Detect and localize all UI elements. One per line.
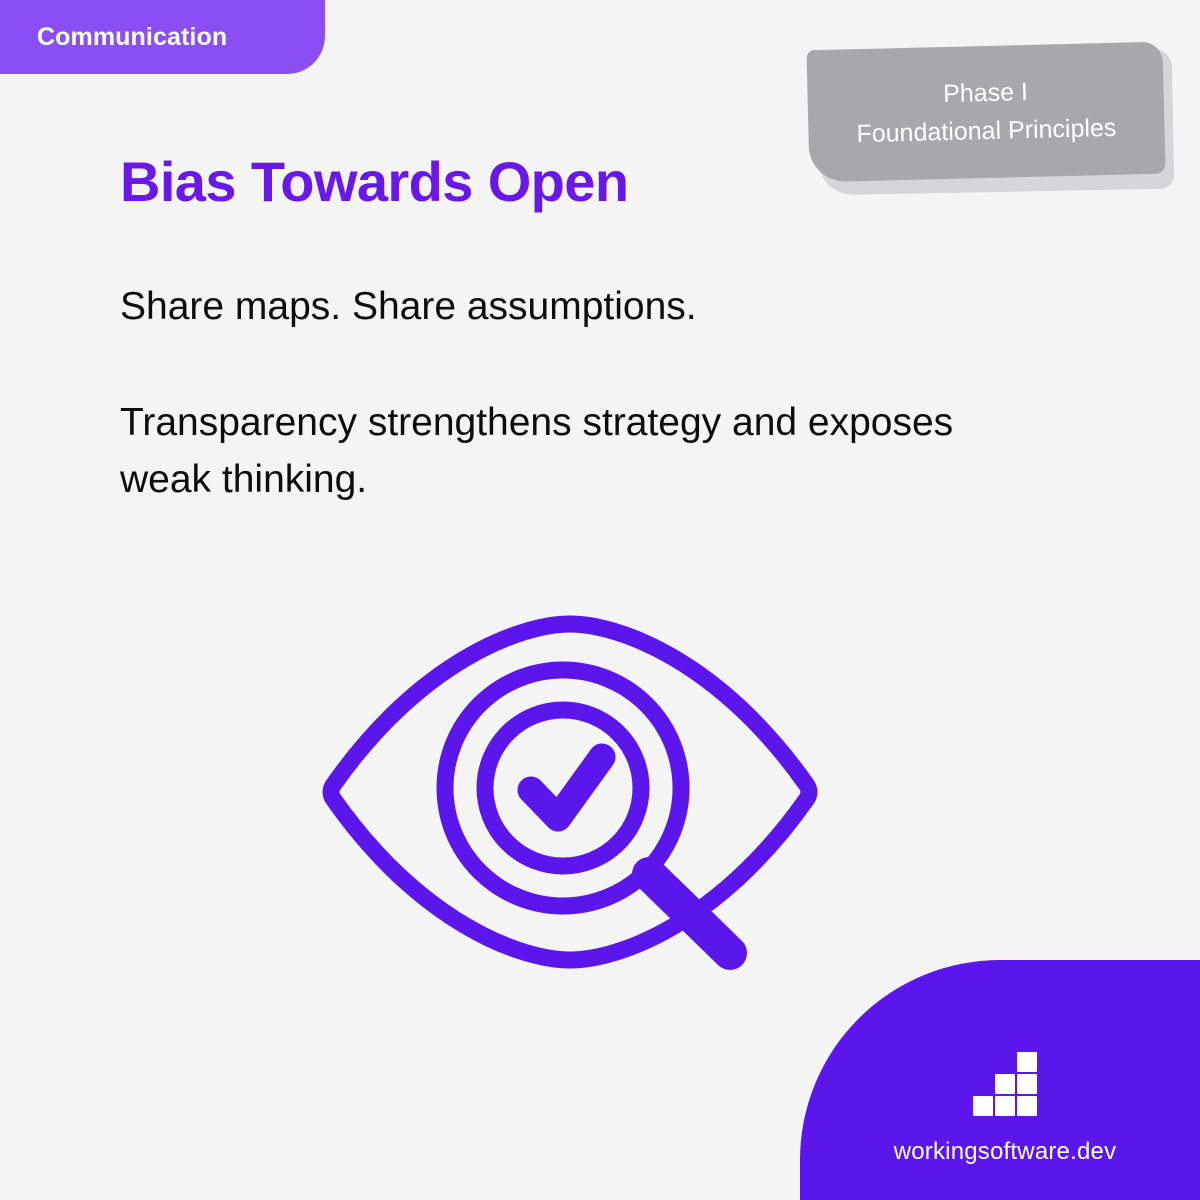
brand-corner: workingsoftware.dev: [800, 960, 1200, 1200]
body-copy: Share maps. Share assumptions. Transpare…: [120, 278, 1040, 509]
page-title: Bias Towards Open: [120, 150, 628, 214]
body-paragraph-1: Share maps. Share assumptions.: [120, 278, 1040, 336]
checkmark-icon: [531, 757, 602, 818]
staircase-blocks-logo: [973, 1052, 1037, 1116]
illustration: [320, 612, 840, 992]
category-tab: Communication: [0, 0, 325, 74]
eye-magnifier-check-icon: [320, 612, 840, 992]
phase-badge-line-2: Foundational Principles: [856, 111, 1117, 152]
phase-badge-body: Phase I Foundational Principles: [806, 42, 1165, 183]
category-tab-label: Communication: [0, 23, 227, 52]
phase-badge: Phase I Foundational Principles: [800, 34, 1180, 199]
brand-url: workingsoftware.dev: [894, 1138, 1117, 1166]
phase-badge-line-1: Phase I: [943, 74, 1029, 111]
slide-canvas: Communication Phase I Foundational Princ…: [0, 0, 1200, 1200]
body-paragraph-2: Transparency strengthens strategy and ex…: [120, 394, 1040, 509]
